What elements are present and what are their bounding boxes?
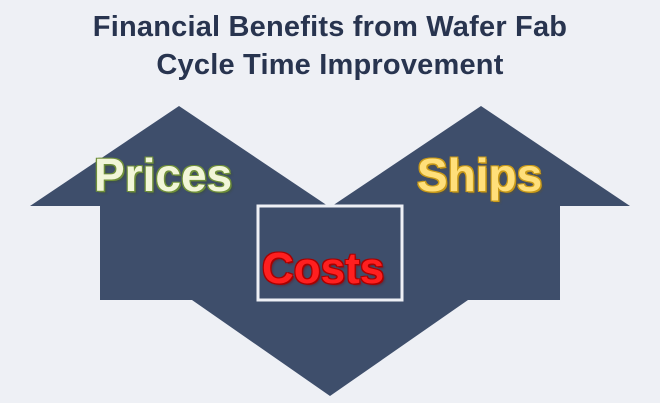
label-prices: Prices	[94, 152, 232, 198]
slide-canvas: Financial Benefits from Wafer Fab Cycle …	[0, 0, 660, 403]
label-ships: Ships	[417, 152, 542, 198]
title-line-1: Financial Benefits from Wafer Fab	[0, 8, 660, 46]
page-title: Financial Benefits from Wafer Fab Cycle …	[0, 8, 660, 84]
title-line-2: Cycle Time Improvement	[0, 46, 660, 84]
label-costs: Costs	[262, 247, 384, 291]
